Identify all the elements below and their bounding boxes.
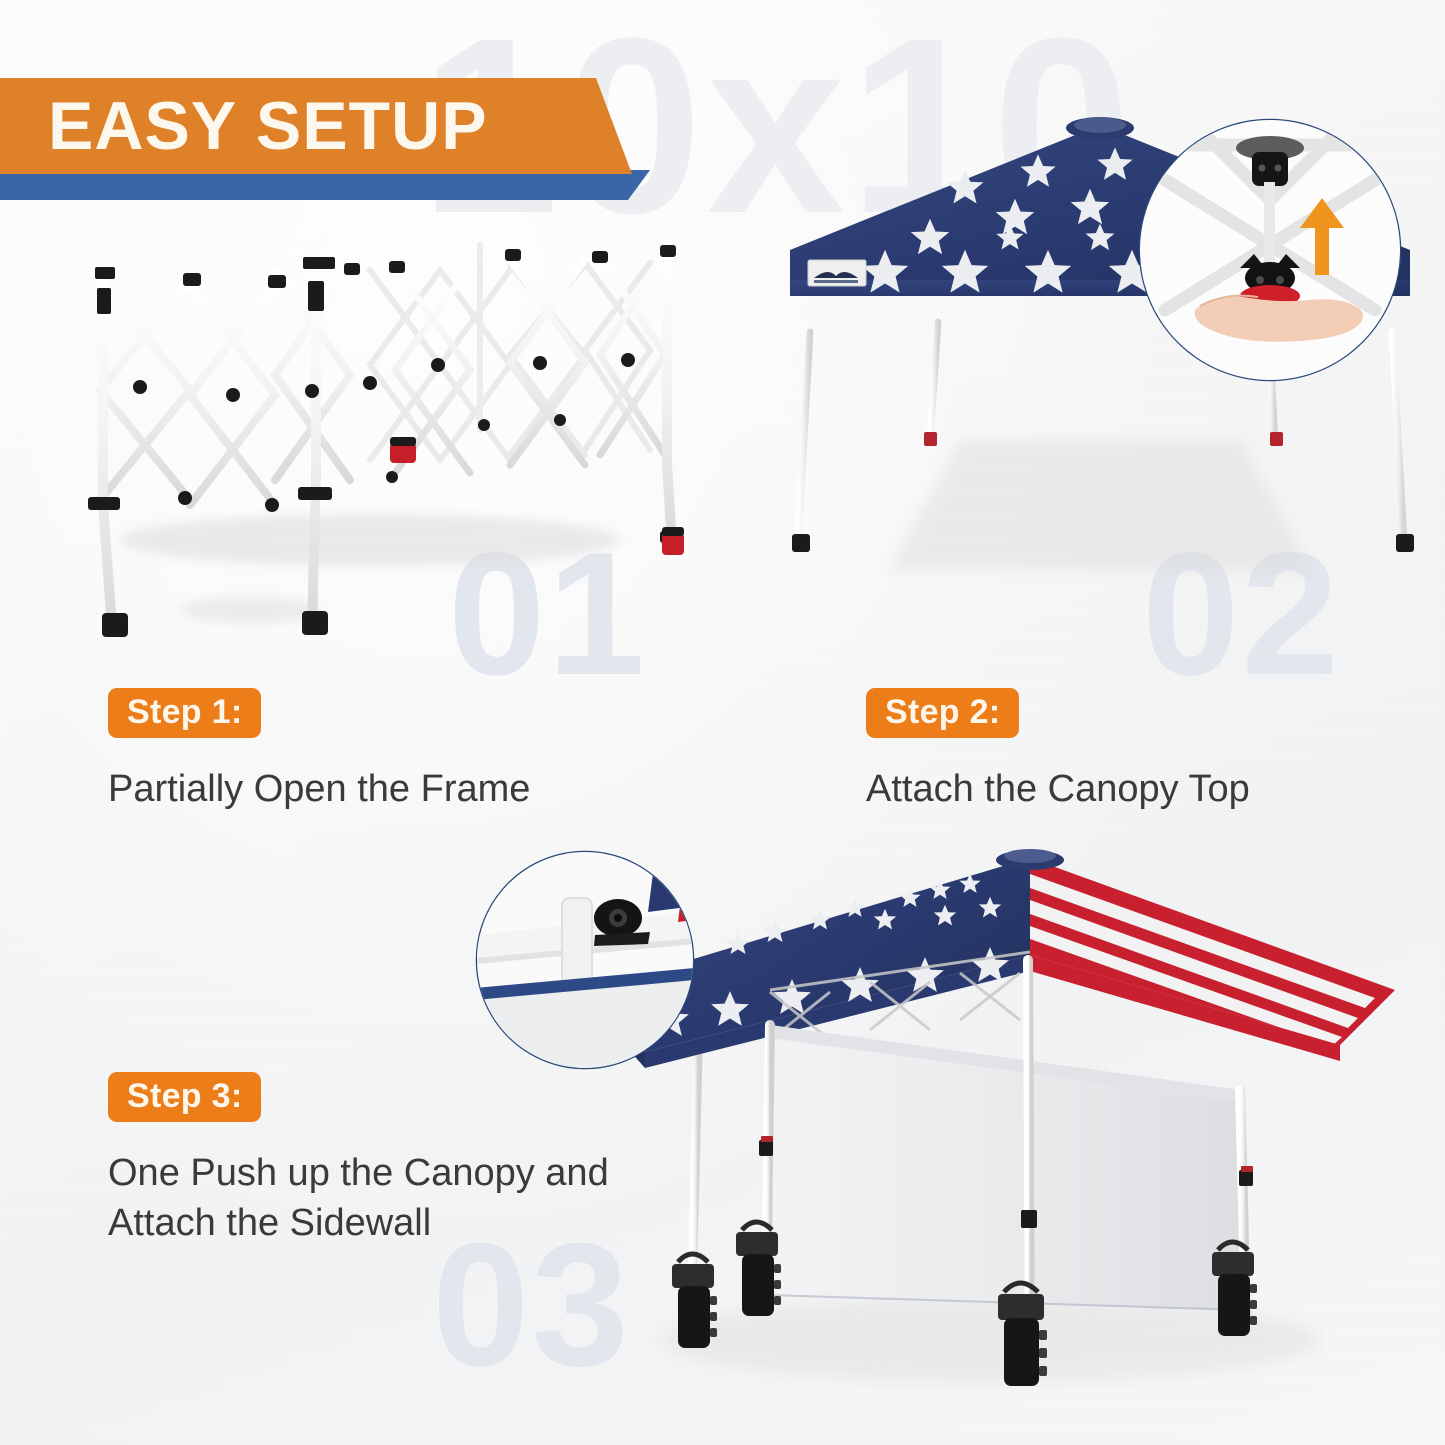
header-banner-blue-accent — [0, 170, 650, 200]
step-2-description: Attach the Canopy Top — [866, 764, 1250, 814]
leg-weight-bag — [998, 1283, 1047, 1386]
step-3-illustration-full-canopy — [470, 840, 1410, 1420]
step-1-text-block: Step 1: Partially Open the Frame — [108, 688, 530, 814]
step-1-illustration-folded-frame — [40, 215, 720, 655]
leg-weight-bag — [736, 1222, 781, 1316]
page-title: EASY SETUP — [48, 92, 488, 160]
step-1-badge: Step 1: — [108, 688, 261, 738]
step-1-description: Partially Open the Frame — [108, 764, 530, 814]
brand-patch — [808, 260, 866, 286]
leg-weight-bag — [1212, 1242, 1257, 1336]
leg-weight-bag — [672, 1254, 717, 1348]
header-banner-orange: EASY SETUP — [0, 78, 632, 174]
step-3-badge: Step 3: — [108, 1072, 261, 1122]
step-3-text-block: Step 3: One Push up the Canopy and Attac… — [108, 1072, 609, 1248]
step-2-badge: Step 2: — [866, 688, 1019, 738]
step-2-text-block: Step 2: Attach the Canopy Top — [866, 688, 1250, 814]
infographic-page: 10x10 01 02 03 EASY SETUP — [0, 0, 1445, 1445]
step-2-illustration-canopy-top — [770, 110, 1430, 630]
step-2-inset-detail — [1140, 120, 1400, 380]
header-banner: EASY SETUP — [0, 78, 632, 174]
step-3-description: One Push up the Canopy and Attach the Si… — [108, 1148, 609, 1248]
